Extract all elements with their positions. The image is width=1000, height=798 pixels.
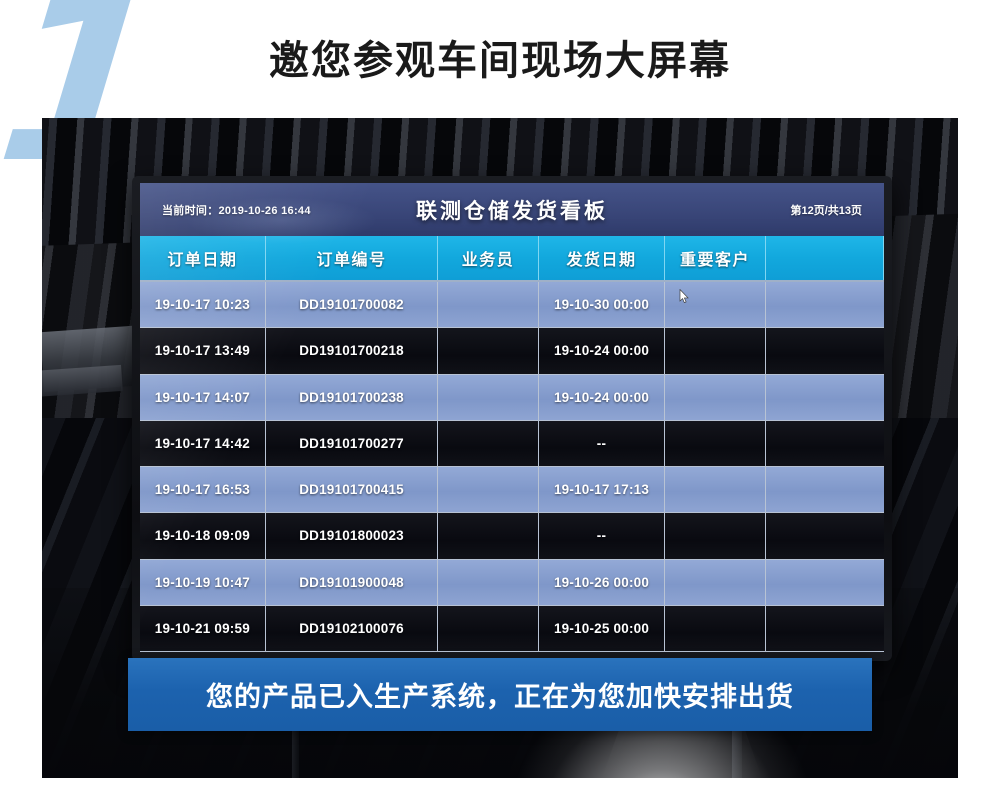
column-header-salesperson: 业务员 <box>438 236 538 280</box>
pagination-indicator: 第12页/共13页 <box>790 202 862 218</box>
shipping-table: 订单日期 订单编号 业务员 发货日期 重要客户 19-10-17 10:23 D… <box>140 236 884 652</box>
table-row: 19-10-17 13:49 DD19101700218 19-10-24 00… <box>140 328 884 374</box>
caption-text: 您的产品已入生产系统，正在为您加快安排出货 <box>206 675 794 714</box>
table-header-row: 订单日期 订单编号 业务员 发货日期 重要客户 <box>140 236 884 282</box>
cell-ship-date: -- <box>539 421 665 466</box>
cell-key-customer <box>665 328 765 373</box>
cell-extra <box>766 467 884 512</box>
cell-extra <box>766 560 884 605</box>
cell-order-date: 19-10-17 16:53 <box>140 467 266 512</box>
cell-ship-date: 19-10-17 17:13 <box>539 467 665 512</box>
cell-order-no: DD19101700218 <box>266 328 439 373</box>
cell-extra <box>766 328 884 373</box>
cell-key-customer <box>665 421 765 466</box>
cell-key-customer <box>665 560 765 605</box>
cell-order-no: DD19101700277 <box>266 421 439 466</box>
cell-ship-date: -- <box>539 513 665 558</box>
column-header-order-no: 订单编号 <box>266 236 439 280</box>
cell-order-no: DD19101700082 <box>266 282 439 327</box>
cell-extra <box>766 375 884 420</box>
page-title: 邀您参观车间现场大屏幕 <box>0 28 1000 86</box>
cell-key-customer <box>665 513 765 558</box>
column-header-order-date: 订单日期 <box>140 236 266 280</box>
cell-ship-date: 19-10-24 00:00 <box>539 375 665 420</box>
cell-salesperson <box>438 513 538 558</box>
column-header-extra <box>766 236 884 280</box>
cell-order-no: DD19101900048 <box>266 560 439 605</box>
dashboard-header: 当前时间：2019-10-26 16:44 联测仓储发货看板 第12页/共13页 <box>140 183 884 236</box>
table-row: 19-10-17 14:07 DD19101700238 19-10-24 00… <box>140 375 884 421</box>
cell-key-customer <box>665 282 765 327</box>
cell-order-date: 19-10-18 09:09 <box>140 513 266 558</box>
cell-salesperson <box>438 375 538 420</box>
cell-key-customer <box>665 467 765 512</box>
cell-order-date: 19-10-17 13:49 <box>140 328 266 373</box>
column-header-key-customer: 重要客户 <box>665 236 765 280</box>
cell-extra <box>766 421 884 466</box>
cell-ship-date: 19-10-24 00:00 <box>539 328 665 373</box>
cell-salesperson <box>438 421 538 466</box>
cell-extra <box>766 513 884 558</box>
cell-key-customer <box>665 606 765 651</box>
table-row: 19-10-18 09:09 DD19101800023 -- <box>140 513 884 559</box>
table-row: 19-10-17 10:23 DD19101700082 19-10-30 00… <box>140 282 884 328</box>
table-row: 19-10-17 14:42 DD19101700277 -- <box>140 421 884 467</box>
shipping-dashboard: 当前时间：2019-10-26 16:44 联测仓储发货看板 第12页/共13页… <box>140 183 884 652</box>
cell-order-no: DD19101800023 <box>266 513 439 558</box>
cell-order-no: DD19102100076 <box>266 606 439 651</box>
table-row: 19-10-17 16:53 DD19101700415 19-10-17 17… <box>140 467 884 513</box>
caption-banner: 您的产品已入生产系统，正在为您加快安排出货 <box>128 658 872 731</box>
wall-display-screen: 当前时间：2019-10-26 16:44 联测仓储发货看板 第12页/共13页… <box>140 183 884 652</box>
table-row: 19-10-21 09:59 DD19102100076 19-10-25 00… <box>140 606 884 652</box>
cell-extra <box>766 606 884 651</box>
cell-salesperson <box>438 467 538 512</box>
cell-order-date: 19-10-17 14:42 <box>140 421 266 466</box>
cell-ship-date: 19-10-25 00:00 <box>539 606 665 651</box>
cell-order-date: 19-10-21 09:59 <box>140 606 266 651</box>
cell-salesperson <box>438 606 538 651</box>
cell-extra <box>766 282 884 327</box>
cell-ship-date: 19-10-26 00:00 <box>539 560 665 605</box>
cell-order-no: DD19101700238 <box>266 375 439 420</box>
cell-key-customer <box>665 375 765 420</box>
cell-salesperson <box>438 328 538 373</box>
cell-salesperson <box>438 282 538 327</box>
cell-order-date: 19-10-17 14:07 <box>140 375 266 420</box>
cell-order-date: 19-10-19 10:47 <box>140 560 266 605</box>
wall-display-bezel: 当前时间：2019-10-26 16:44 联测仓储发货看板 第12页/共13页… <box>132 176 892 661</box>
dashboard-title: 联测仓储发货看板 <box>416 195 608 225</box>
cell-salesperson <box>438 560 538 605</box>
cell-order-no: DD19101700415 <box>266 467 439 512</box>
column-header-ship-date: 发货日期 <box>539 236 665 280</box>
cell-ship-date: 19-10-30 00:00 <box>539 282 665 327</box>
current-time-label: 当前时间：2019-10-26 16:44 <box>162 202 311 218</box>
cell-order-date: 19-10-17 10:23 <box>140 282 266 327</box>
table-row: 19-10-19 10:47 DD19101900048 19-10-26 00… <box>140 560 884 606</box>
